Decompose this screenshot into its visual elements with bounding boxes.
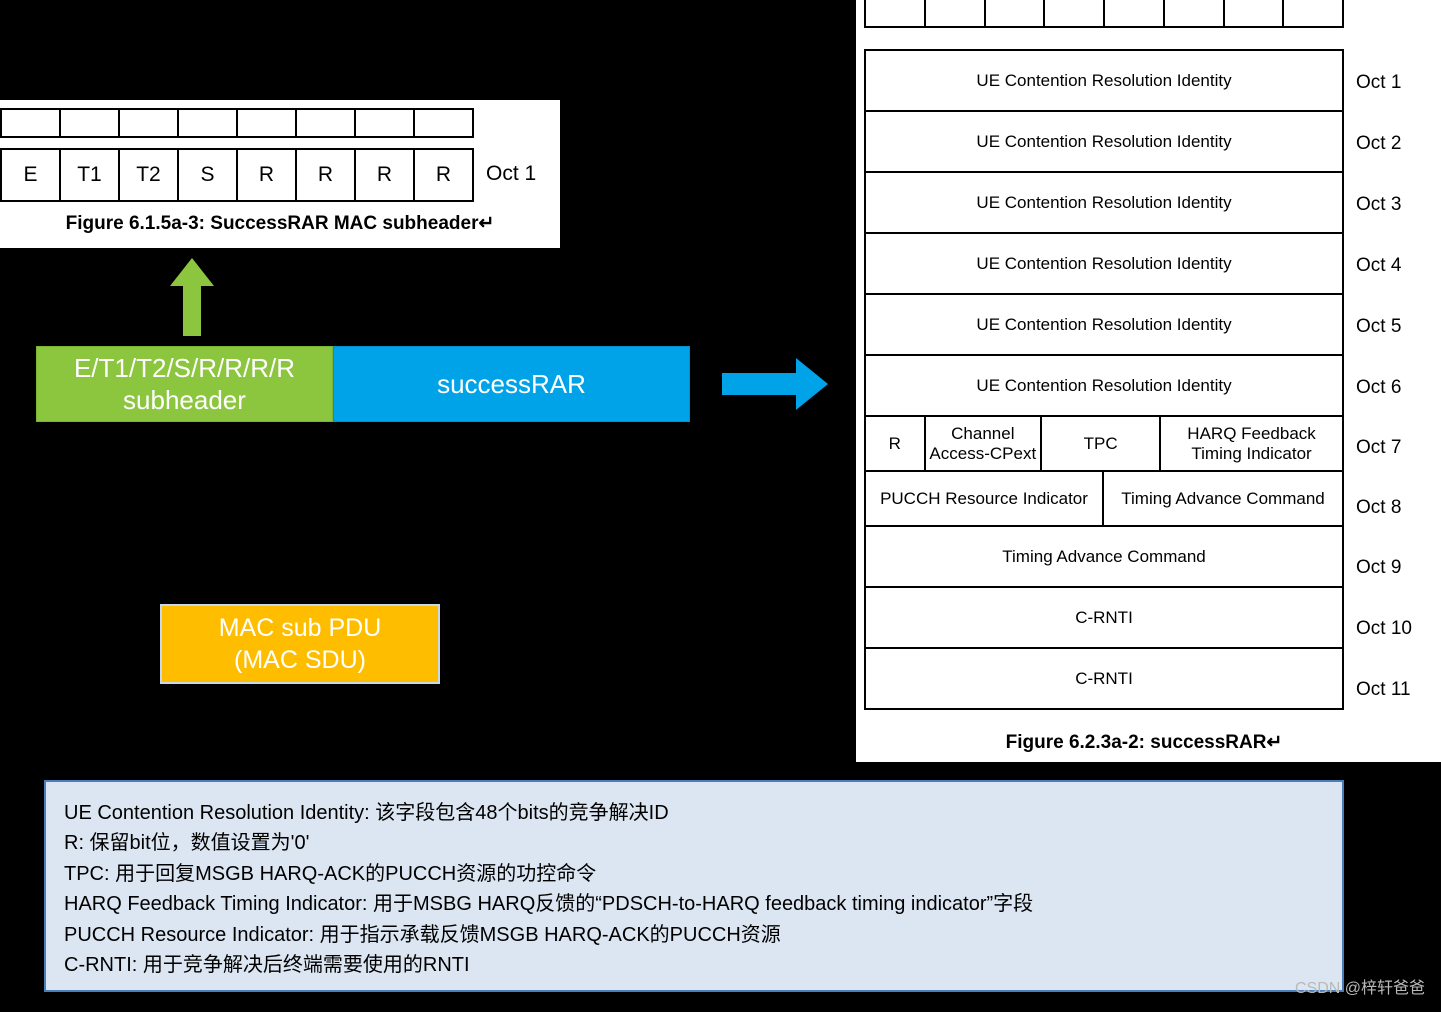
subheader-field: T1 — [61, 150, 120, 200]
table-row: UE Contention Resolution Identity — [866, 354, 1342, 415]
rar-field: C-RNTI — [866, 588, 1342, 647]
rar-field: Timing Advance Command — [1104, 472, 1342, 525]
subheader-field: R — [356, 150, 415, 200]
rar-field: TPC — [1042, 417, 1161, 470]
rar-octet-label: Oct 10 — [1356, 618, 1412, 640]
table-row: C-RNTI — [866, 586, 1342, 647]
subheader-field: R — [415, 150, 472, 200]
note-line: R: 保留bit位，数值设置为'0' — [64, 828, 1324, 858]
subheader-octet-label: Oct 1 — [486, 162, 536, 186]
note-line: TPC: 用于回复MSGB HARQ-ACK的PUCCH资源的功控命令 — [64, 859, 1324, 889]
pdu-subheader-line1: E/T1/T2/S/R/R/R/R — [74, 352, 295, 385]
rar-octet-label: Oct 7 — [1356, 437, 1401, 459]
rar-field: HARQ Feedback Timing Indicator — [1161, 417, 1342, 470]
rar-bit-ruler — [864, 0, 1344, 28]
successrar-figure-caption: Figure 6.2.3a-2: successRAR↵ — [864, 731, 1424, 754]
ruler-tick — [1045, 0, 1105, 26]
table-row: UE Contention Resolution Identity — [866, 49, 1342, 110]
subheader-field: R — [297, 150, 356, 200]
subheader-field: E — [2, 150, 61, 200]
subheader-field: T2 — [120, 150, 179, 200]
ruler-tick — [1105, 0, 1165, 26]
mac-subpdu-bar: E/T1/T2/S/R/R/R/R subheader successRAR — [36, 346, 690, 422]
subheader-field-row: E T1 T2 S R R R R — [0, 148, 474, 202]
rar-field: Channel Access-CPext — [926, 417, 1043, 470]
pdu-subheader-line2: subheader — [123, 384, 246, 417]
rar-field: UE Contention Resolution Identity — [866, 173, 1342, 232]
table-row: UE Contention Resolution Identity — [866, 232, 1342, 293]
rar-field: UE Contention Resolution Identity — [866, 356, 1342, 415]
table-row: UE Contention Resolution Identity — [866, 171, 1342, 232]
rar-field: UE Contention Resolution Identity — [866, 234, 1342, 293]
ruler-tick — [866, 0, 926, 26]
successrar-mac-subheader-figure: E T1 T2 S R R R R Oct 1 Figure 6.1.5a-3:… — [0, 100, 560, 248]
watermark: CSDN @梓轩爸爸 — [1295, 974, 1425, 998]
table-row: Timing Advance Command — [866, 525, 1342, 586]
ruler-tick — [238, 110, 297, 136]
mac-sub-pdu-line1: MAC sub PDU — [219, 612, 382, 645]
ruler-tick — [1225, 0, 1285, 26]
rar-field: Timing Advance Command — [866, 527, 1342, 586]
ruler-tick — [356, 110, 415, 136]
ruler-tick — [1165, 0, 1225, 26]
subheader-field: S — [179, 150, 238, 200]
ruler-tick — [61, 110, 120, 136]
note-line: PUCCH Resource Indicator: 用于指示承载反馈MSGB H… — [64, 920, 1324, 950]
successrar-figure: UE Contention Resolution Identity UE Con… — [856, 0, 1441, 762]
rar-octet-label: Oct 8 — [1356, 497, 1401, 519]
ruler-tick — [2, 110, 61, 136]
subheader-figure-caption: Figure 6.1.5a-3: SuccessRAR MAC subheade… — [0, 212, 560, 235]
table-row: C-RNTI — [866, 647, 1342, 708]
ruler-tick — [986, 0, 1046, 26]
rar-octet-label: Oct 4 — [1356, 255, 1401, 277]
table-row: UE Contention Resolution Identity — [866, 110, 1342, 171]
rar-field: UE Contention Resolution Identity — [866, 112, 1342, 171]
ruler-tick — [120, 110, 179, 136]
blue-right-arrow-icon — [722, 358, 828, 410]
pdu-subheader-block: E/T1/T2/S/R/R/R/R subheader — [36, 346, 333, 422]
rar-octet-label: Oct 6 — [1356, 377, 1401, 399]
rar-octet-label: Oct 9 — [1356, 557, 1401, 579]
rar-octet-label: Oct 1 — [1356, 72, 1401, 94]
ruler-tick — [1284, 0, 1342, 26]
note-line: C-RNTI: 用于竞争解决后终端需要使用的RNTI — [64, 950, 1324, 980]
rar-field: UE Contention Resolution Identity — [866, 51, 1342, 110]
rar-octet-label: Oct 5 — [1356, 316, 1401, 338]
rar-octet-label: Oct 3 — [1356, 194, 1401, 216]
ruler-tick — [926, 0, 986, 26]
note-line: HARQ Feedback Timing Indicator: 用于MSBG H… — [64, 889, 1324, 919]
successrar-octet-table: UE Contention Resolution Identity UE Con… — [864, 49, 1344, 710]
ruler-tick — [297, 110, 356, 136]
pdu-successrar-block: successRAR — [333, 346, 690, 422]
rar-field: UE Contention Resolution Identity — [866, 295, 1342, 354]
subheader-bit-ruler — [0, 108, 474, 138]
rar-field: C-RNTI — [866, 649, 1342, 708]
subheader-field: R — [238, 150, 297, 200]
field-description-note: UE Contention Resolution Identity: 该字段包含… — [44, 780, 1344, 992]
rar-field: R — [866, 417, 926, 470]
table-row: PUCCH Resource Indicator Timing Advance … — [866, 470, 1342, 525]
note-line: UE Contention Resolution Identity: 该字段包含… — [64, 798, 1324, 828]
rar-octet-label: Oct 2 — [1356, 133, 1401, 155]
ruler-tick — [415, 110, 472, 136]
table-row: UE Contention Resolution Identity — [866, 293, 1342, 354]
table-row: R Channel Access-CPext TPC HARQ Feedback… — [866, 415, 1342, 470]
green-up-arrow-icon — [170, 258, 214, 336]
mac-sub-pdu-box: MAC sub PDU (MAC SDU) — [160, 604, 440, 684]
mac-sub-pdu-line2: (MAC SDU) — [234, 644, 366, 677]
rar-octet-label: Oct 11 — [1356, 679, 1411, 701]
ruler-tick — [179, 110, 238, 136]
rar-field: PUCCH Resource Indicator — [866, 472, 1104, 525]
